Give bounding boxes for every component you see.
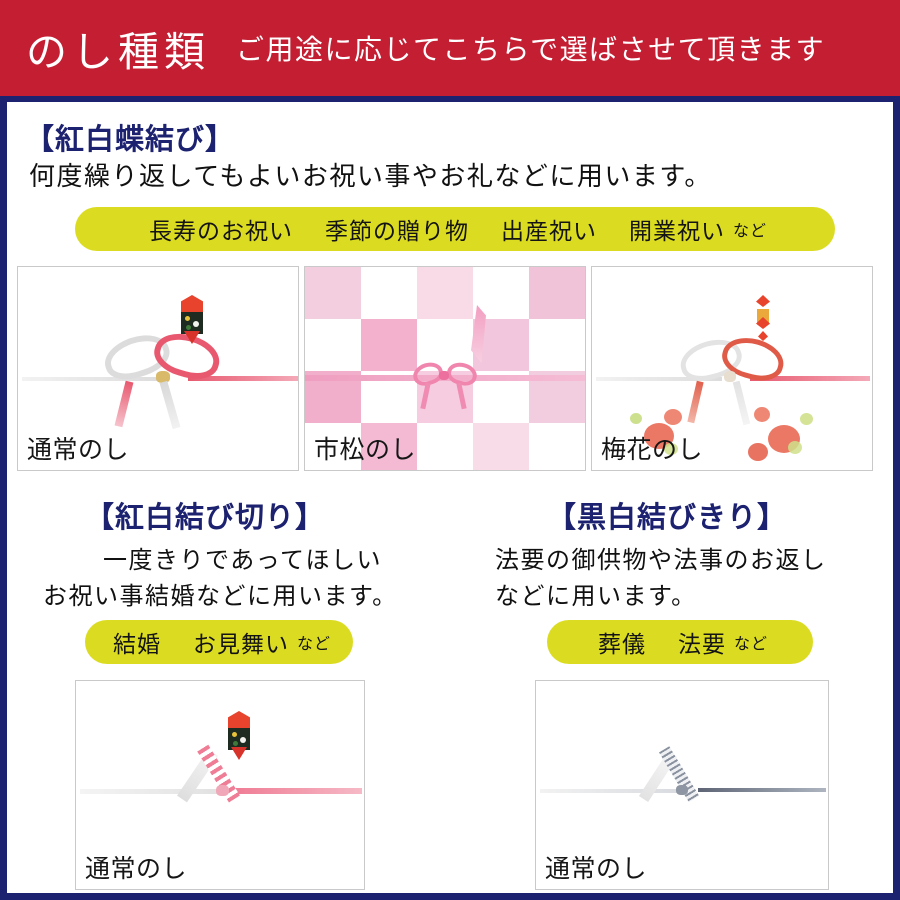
usage-pill-kurojiro-musubikiri: 葬儀 法要 など xyxy=(547,620,813,664)
noshi-card-label: 通常のし xyxy=(545,849,647,885)
usage-pill-kohaku-musubikiri: 結婚 お見舞い など xyxy=(85,620,353,664)
noshi-card-label: 梅花のし xyxy=(601,430,703,466)
section-heading-kohaku-musubikiri: 【紅白結び切り】 xyxy=(85,494,325,536)
noshi-card-tsujo-musubikiri-black[interactable]: 通常のし xyxy=(535,680,829,890)
pill-item: 葬儀 xyxy=(598,625,646,659)
noshi-card-label: 通常のし xyxy=(85,849,187,885)
pill-item: 法要 xyxy=(678,625,726,659)
usage-pill-kohaku-chomusubi: 長寿のお祝い 季節の贈り物 出産祝い 開業祝い など xyxy=(75,207,835,251)
pill-item: 開業祝い xyxy=(629,212,725,246)
pill-item: 結婚 xyxy=(113,625,161,659)
pill-suffix: など xyxy=(733,217,767,241)
page-banner: のし種類 ご用途に応じてこちらで選ばさせて頂きます xyxy=(0,0,900,96)
noshi-card-tsujo-chomusubi[interactable]: 通常のし xyxy=(17,266,299,471)
section-description-kurojiro-musubikiri-line1: 法要の御供物や法事のお返し xyxy=(495,540,827,575)
noshi-card-ichimatsu[interactable]: 市松のし xyxy=(304,266,586,471)
noshi-card-tsujo-musubikiri-red[interactable]: 通常のし xyxy=(75,680,365,890)
page-title: のし種類 xyxy=(26,18,210,78)
pill-item: 季節の贈り物 xyxy=(325,212,469,246)
section-description-kohaku-musubikiri-line2: お祝い事結婚などに用います。 xyxy=(43,576,398,611)
section-description-kohaku-musubikiri-line1: 一度きりであってほしい xyxy=(103,540,382,575)
content-frame: 【紅白蝶結び】 何度繰り返してもよいお祝い事やお礼などに用います。 長寿のお祝い… xyxy=(0,96,900,900)
pill-item: 長寿のお祝い xyxy=(149,212,293,246)
noshi-ornament-icon xyxy=(228,711,250,759)
noshi-ornament-simple-icon xyxy=(752,295,774,343)
noshi-ornament-icon xyxy=(181,295,203,343)
noshi-card-label: 通常のし xyxy=(27,430,129,466)
noshi-selection-page: のし種類 ご用途に応じてこちらで選ばさせて頂きます 【紅白蝶結び】 何度繰り返し… xyxy=(0,0,900,900)
pill-item: お見舞い xyxy=(193,625,289,659)
pill-suffix: など xyxy=(297,630,331,654)
page-subtitle: ご用途に応じてこちらで選ばさせて頂きます xyxy=(236,28,825,68)
section-heading-kurojiro-musubikiri: 【黒白結びきり】 xyxy=(547,494,787,536)
pill-suffix: など xyxy=(734,630,768,654)
pill-item: 出産祝い xyxy=(501,212,597,246)
noshi-card-label: 市松のし xyxy=(314,430,416,466)
noshi-card-baika[interactable]: 梅花のし xyxy=(591,266,873,471)
section-description-kohaku-chomusubi: 何度繰り返してもよいお祝い事やお礼などに用います。 xyxy=(29,156,712,193)
section-description-kurojiro-musubikiri-line2: などに用います。 xyxy=(495,576,697,611)
section-heading-kohaku-chomusubi: 【紅白蝶結び】 xyxy=(25,116,235,158)
